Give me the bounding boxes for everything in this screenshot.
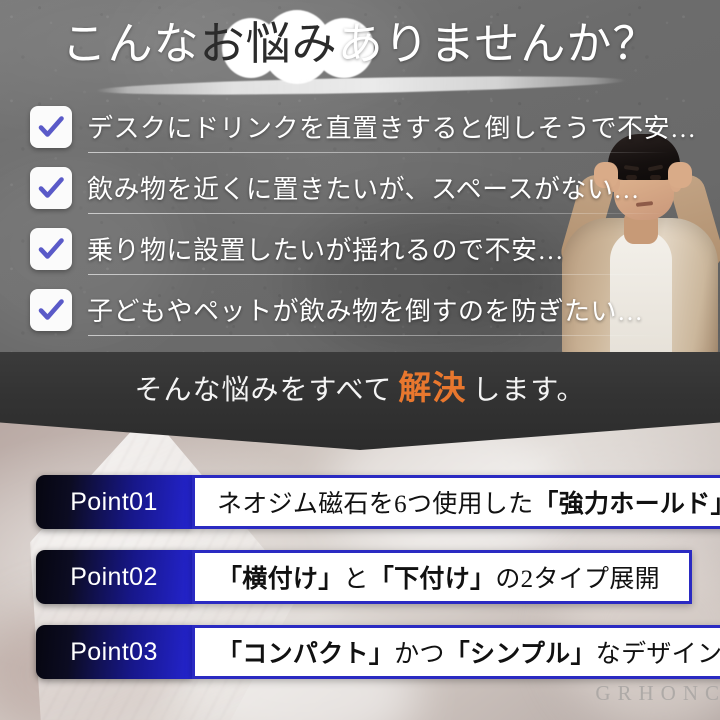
problem-section: こんなお悩みありませんか？ デスクにドリンクを直置きすると倒しそうで不安… bbox=[0, 0, 720, 356]
check-icon bbox=[30, 289, 72, 331]
check-icon bbox=[30, 167, 72, 209]
point-description-text: ネオジム磁石を6つ使用した「強力ホールド」 bbox=[217, 484, 720, 520]
headline-text: こんなお悩みありませんか？ bbox=[0, 8, 720, 80]
problem-text: デスクにドリンクを直置きすると倒しそうで不安… bbox=[87, 108, 697, 145]
point-description-text: 「横付け」と「下付け」の2タイプ展開 bbox=[217, 559, 660, 595]
problem-checklist: デスクにドリンクを直置きすると倒しそうで不安… 飲み物を近くに置きたいが、スペー… bbox=[0, 96, 720, 340]
point-label: Point03 bbox=[36, 625, 192, 679]
point-description-text: 「コンパクト」かつ「シンプル」なデザイン bbox=[217, 634, 720, 670]
problem-item: 乗り物に設置したいが揺れるので不安… bbox=[0, 218, 720, 279]
point-row: Point03 「コンパクト」かつ「シンプル」なデザイン bbox=[36, 625, 692, 679]
banner-emphasis: 解決 bbox=[392, 369, 472, 406]
divider bbox=[88, 213, 668, 214]
banner-after: します。 bbox=[472, 374, 585, 405]
point-label: Point01 bbox=[36, 475, 192, 529]
point-label: Point02 bbox=[36, 550, 192, 604]
point-description: 「コンパクト」かつ「シンプル」なデザイン bbox=[192, 625, 720, 679]
problem-text: 乗り物に設置したいが揺れるので不安… bbox=[87, 230, 564, 267]
banner-before: そんな悩みをすべて bbox=[134, 374, 392, 405]
divider bbox=[88, 152, 668, 153]
point-row: Point01 ネオジム磁石を6つ使用した「強力ホールド」 bbox=[36, 475, 692, 529]
point-description: 「横付け」と「下付け」の2タイプ展開 bbox=[192, 550, 692, 604]
point-row: Point02 「横付け」と「下付け」の2タイプ展開 bbox=[36, 550, 692, 604]
divider bbox=[88, 335, 668, 336]
advertisement-image: こんなお悩みありませんか？ デスクにドリンクを直置きすると倒しそうで不安… bbox=[0, 0, 720, 720]
point-description: ネオジム磁石を6つ使用した「強力ホールド」 bbox=[192, 475, 720, 529]
headline: こんなお悩みありませんか？ bbox=[0, 8, 720, 86]
problem-text: 子どもやペットが飲み物を倒すのを防ぎたい… bbox=[87, 291, 644, 328]
problem-item: デスクにドリンクを直置きすると倒しそうで不安… bbox=[0, 96, 720, 157]
problem-item: 子どもやペットが飲み物を倒すのを防ぎたい… bbox=[0, 279, 720, 340]
headline-suffix: ありませんか？ bbox=[338, 18, 659, 69]
headline-highlight: お悩み bbox=[200, 18, 338, 69]
check-icon bbox=[30, 106, 72, 148]
headline-prefix: こんな bbox=[62, 18, 200, 69]
problem-item: 飲み物を近くに置きたいが、スペースがない… bbox=[0, 157, 720, 218]
points-section: Point01 ネオジム磁石を6つ使用した「強力ホールド」 Point02 「横… bbox=[0, 420, 720, 720]
brand-watermark: GRHONC bbox=[595, 681, 720, 706]
check-icon bbox=[30, 228, 72, 270]
problem-text: 飲み物を近くに置きたいが、スペースがない… bbox=[87, 169, 640, 206]
points-list: Point01 ネオジム磁石を6つ使用した「強力ホールド」 Point02 「横… bbox=[0, 420, 720, 720]
divider bbox=[88, 274, 668, 275]
solution-banner-text: そんな悩みをすべて解決します。 bbox=[0, 352, 720, 424]
